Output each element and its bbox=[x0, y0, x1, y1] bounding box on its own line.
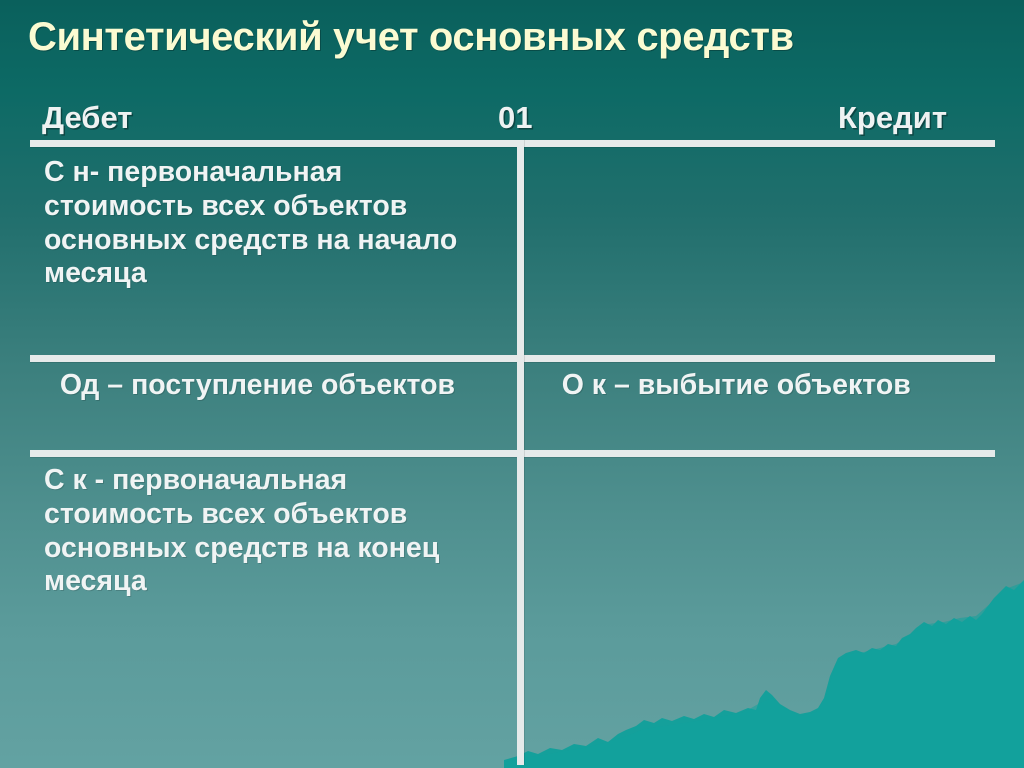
debit-cell-opening-balance: С н- первоначальная стоимость всех объек… bbox=[44, 156, 494, 291]
t-account-table: Дебет 01 Кредит С н- первоначальная стои… bbox=[0, 0, 1024, 768]
column-header-debit: Дебет bbox=[42, 100, 132, 136]
credit-cell-turnover: О к – выбытие объектов bbox=[530, 369, 980, 403]
row-divider-rule-2 bbox=[30, 450, 995, 457]
column-divider-rule bbox=[517, 140, 524, 765]
row-divider-rule-1 bbox=[30, 355, 995, 362]
header-divider-rule bbox=[30, 140, 995, 147]
column-header-credit: Кредит bbox=[838, 100, 947, 136]
debit-cell-closing-balance: С к - первоначальная стоимость всех объе… bbox=[44, 464, 494, 599]
account-number-label: 01 bbox=[498, 100, 532, 136]
presentation-slide: Синтетический учет основных средств Дебе… bbox=[0, 0, 1024, 768]
debit-cell-turnover: Од – поступление объектов bbox=[44, 369, 494, 403]
